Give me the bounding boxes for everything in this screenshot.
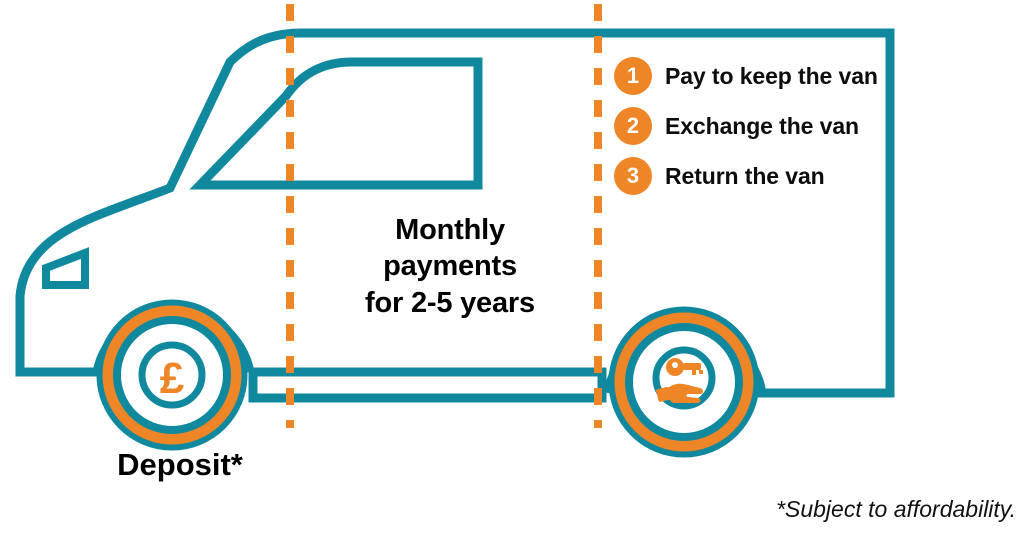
list-item: 1 Pay to keep the van	[614, 52, 914, 100]
monthly-payments-line-3: for 2-5 years	[318, 285, 582, 321]
van-window-path	[200, 62, 478, 185]
rear-wheel-inner-teal-ring	[629, 327, 739, 437]
option-number-badge: 2	[614, 107, 652, 145]
option-label: Exchange the van	[665, 113, 859, 140]
option-label: Pay to keep the van	[665, 63, 878, 90]
list-item: 2 Exchange the van	[614, 102, 914, 150]
key-tooth-1	[692, 370, 696, 375]
footnote-text: *Subject to affordability.	[776, 496, 1016, 523]
key-tooth-2	[699, 370, 703, 374]
van-chassis-sill-path	[253, 372, 602, 398]
list-item: 3 Return the van	[614, 152, 914, 200]
van-finance-infographic: £ Monthly payments	[0, 0, 1024, 538]
pound-icon: £	[160, 354, 185, 403]
rear-wheel-end-of-term	[613, 311, 755, 453]
monthly-payments-line-2: payments	[318, 248, 582, 284]
monthly-payments-label: Monthly payments for 2-5 years	[318, 212, 582, 321]
van-front-vent-path	[46, 253, 85, 285]
option-number-badge: 1	[614, 57, 652, 95]
front-wheel-deposit: £	[101, 304, 243, 446]
van-chassis-sill	[253, 372, 602, 398]
key-bow-hole	[672, 362, 678, 368]
option-label: Return the van	[665, 163, 825, 190]
van-front-vent	[46, 253, 85, 285]
option-number-badge: 3	[614, 157, 652, 195]
end-of-term-options-list: 1 Pay to keep the van 2 Exchange the van…	[614, 52, 914, 202]
monthly-payments-line-1: Monthly	[318, 212, 582, 248]
deposit-label: Deposit*	[60, 446, 300, 485]
van-window	[200, 62, 478, 185]
key-shaft	[683, 363, 701, 370]
